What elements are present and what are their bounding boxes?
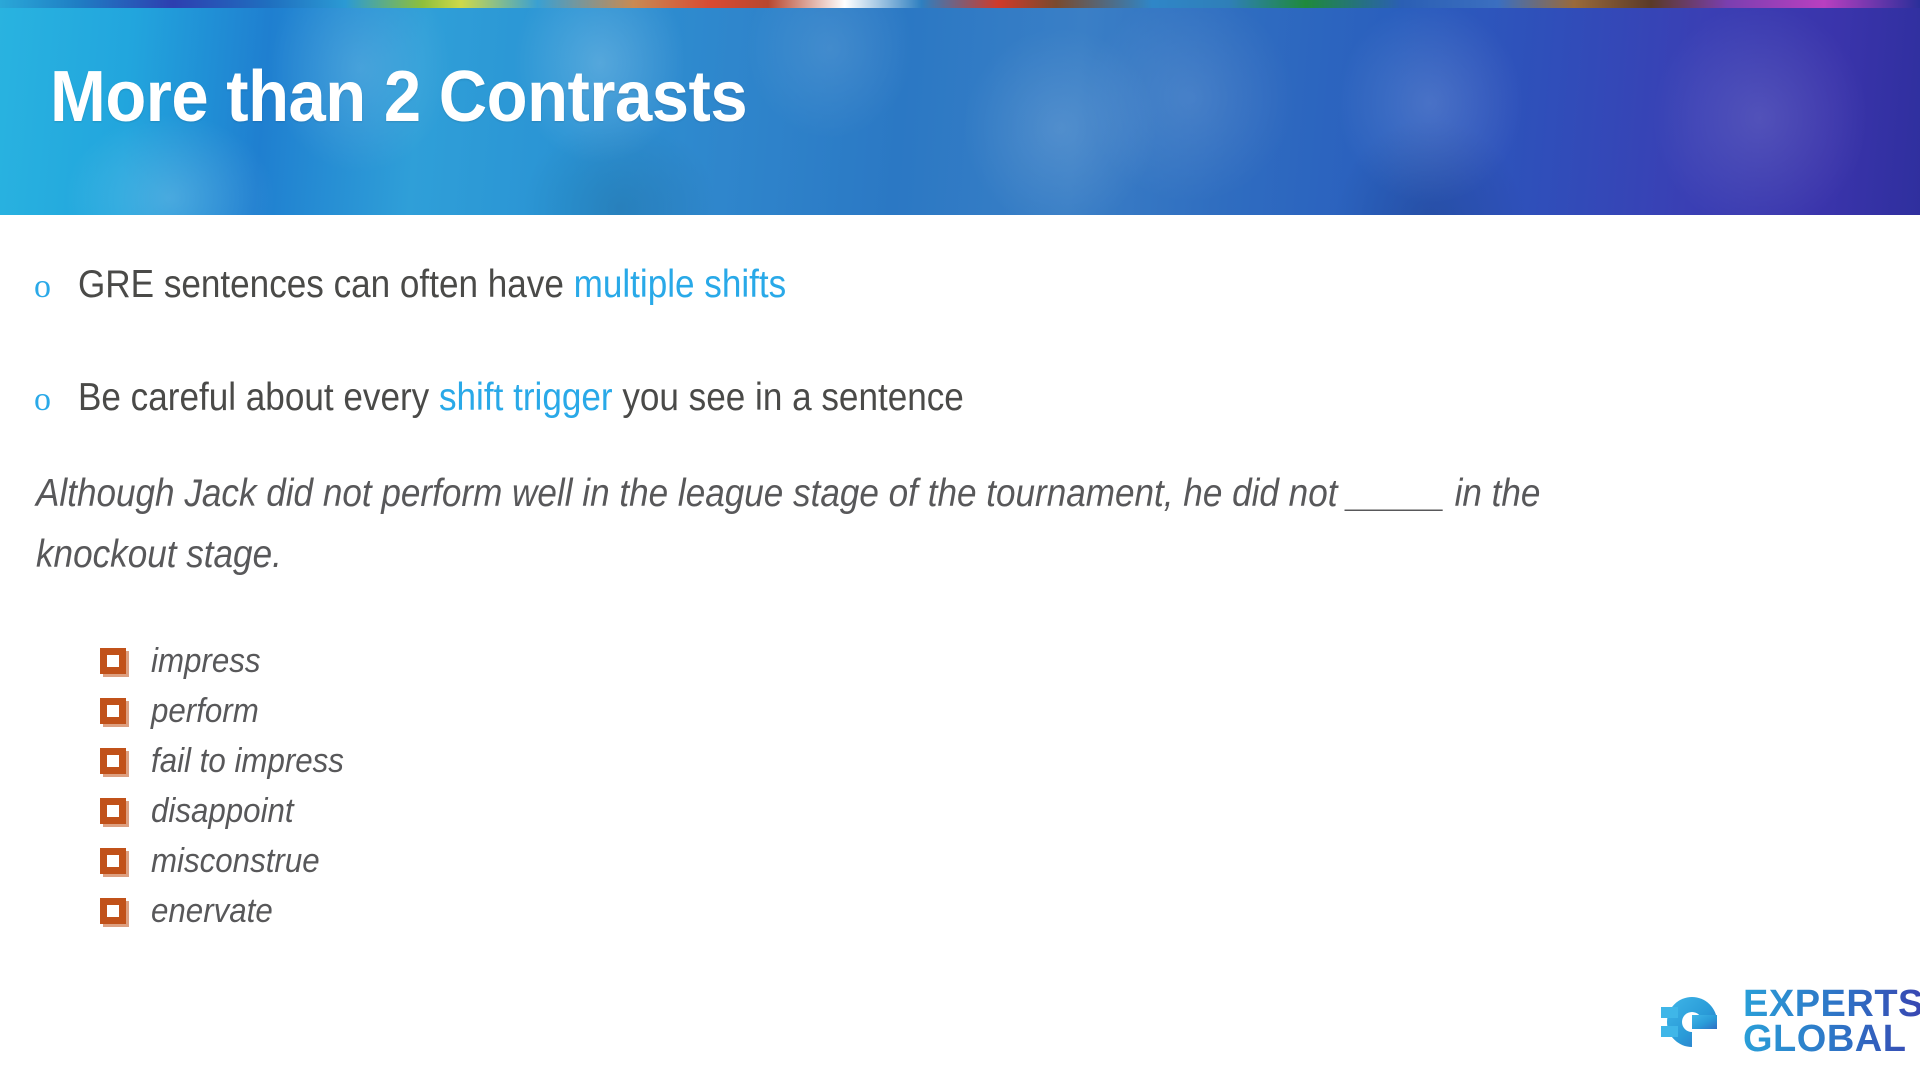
bullet-1-highlight: multiple shifts	[574, 263, 787, 306]
page-title: More than 2 Contrasts	[50, 54, 747, 140]
checkbox-icon[interactable]	[100, 698, 126, 724]
brand-logo: EXPERTS’ GLOBAL	[1655, 985, 1920, 1059]
bullet-2-highlight: shift trigger	[439, 376, 613, 419]
bullet-1-before: GRE sentences can often have	[78, 263, 574, 306]
logo-line-1: EXPERTS’	[1743, 987, 1920, 1022]
experts-global-g-mark-icon	[1655, 985, 1729, 1059]
list-item[interactable]: enervate	[100, 886, 361, 936]
option-label: enervate	[151, 891, 273, 931]
bullet-2-after: you see in a sentence	[613, 376, 964, 419]
list-item[interactable]: misconstrue	[100, 836, 361, 886]
question-prompt: Although Jack did not perform well in th…	[36, 463, 1656, 585]
slide-header-banner: More than 2 Contrasts	[0, 0, 1920, 215]
checkbox-icon[interactable]	[100, 898, 126, 924]
banner-color-strip	[0, 0, 1920, 8]
checkbox-icon[interactable]	[100, 748, 126, 774]
checkbox-icon[interactable]	[100, 648, 126, 674]
option-label: impress	[151, 641, 261, 681]
slide-body: o GRE sentences can often have multiple …	[0, 215, 1920, 1080]
list-item[interactable]: disappoint	[100, 786, 361, 836]
bullet-2-before: Be careful about every	[78, 376, 439, 419]
list-item[interactable]: fail to impress	[100, 736, 361, 786]
option-label: perform	[151, 691, 259, 731]
list-item[interactable]: impress	[100, 636, 361, 686]
logo-wordmark: EXPERTS’ GLOBAL	[1743, 987, 1920, 1058]
answer-options-list: impress perform fail to impress disappoi…	[100, 636, 361, 936]
checkbox-icon[interactable]	[100, 848, 126, 874]
bullet-item-2: o Be careful about every shift trigger y…	[34, 375, 1062, 421]
option-label: disappoint	[151, 791, 294, 831]
bullet-item-1-text: GRE sentences can often have multiple sh…	[78, 262, 786, 308]
circle-bullet-icon: o	[34, 270, 78, 304]
option-label: misconstrue	[151, 841, 320, 881]
bullet-item-1: o GRE sentences can often have multiple …	[34, 262, 865, 308]
circle-bullet-icon: o	[34, 383, 78, 417]
checkbox-icon[interactable]	[100, 798, 126, 824]
logo-line-2: GLOBAL	[1743, 1022, 1920, 1057]
option-label: fail to impress	[151, 741, 344, 781]
bullet-item-2-text: Be careful about every shift trigger you…	[78, 375, 964, 421]
list-item[interactable]: perform	[100, 686, 361, 736]
